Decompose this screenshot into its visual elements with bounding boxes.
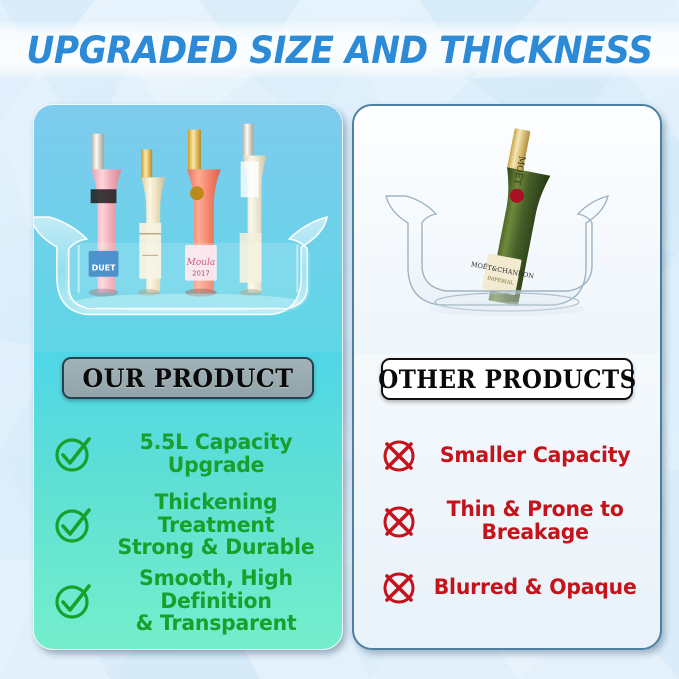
feature-label: 5.5L Capacity Upgrade [103,431,328,476]
feature-label: Thickening TreatmentStrong & Durable [103,491,328,559]
our-product-image: DUET Moula [34,105,342,353]
other-products-feature-list: Smaller Capacity Thin & Prone toBreakage… [354,422,660,620]
feature-item: Thin & Prone toBreakage [364,488,650,554]
feature-label: Thin & Prone toBreakage [433,498,646,543]
x-circle-icon [378,566,420,608]
badge-other-products-label: OTHER PRODUCTS [378,365,636,394]
badge-our-product-label: OUR PRODUCT [83,364,294,393]
feature-item: Smaller Capacity [364,422,650,488]
feature-label: Smaller Capacity [433,444,646,467]
comparison-panels: DUET Moula [0,0,679,679]
badge-our-product: OUR PRODUCT [62,357,314,399]
feature-item: Smooth, High Definition& Transparent [44,563,332,639]
check-circle-icon [52,580,94,622]
badge-other-products: OTHER PRODUCTS [381,358,633,400]
panel-other-products: MOËT&CHANDON IMPÉRIAL MOËT OTHER PRODUCT… [352,104,662,650]
check-circle-icon [52,433,94,475]
feature-item: 5.5L Capacity Upgrade [44,421,332,487]
other-products-image: MOËT&CHANDON IMPÉRIAL MOËT [354,106,660,354]
check-circle-icon [52,504,94,546]
feature-item: Thickening TreatmentStrong & Durable [44,487,332,563]
feature-label: Blurred & Opaque [433,576,646,599]
our-product-feature-list: 5.5L Capacity Upgrade Thickening Treatme… [34,421,342,639]
x-circle-icon [378,500,420,542]
x-circle-icon [378,434,420,476]
feature-label: Smooth, High Definition& Transparent [103,567,328,635]
feature-item: Blurred & Opaque [364,554,650,620]
panel-our-product: DUET Moula [33,104,343,650]
